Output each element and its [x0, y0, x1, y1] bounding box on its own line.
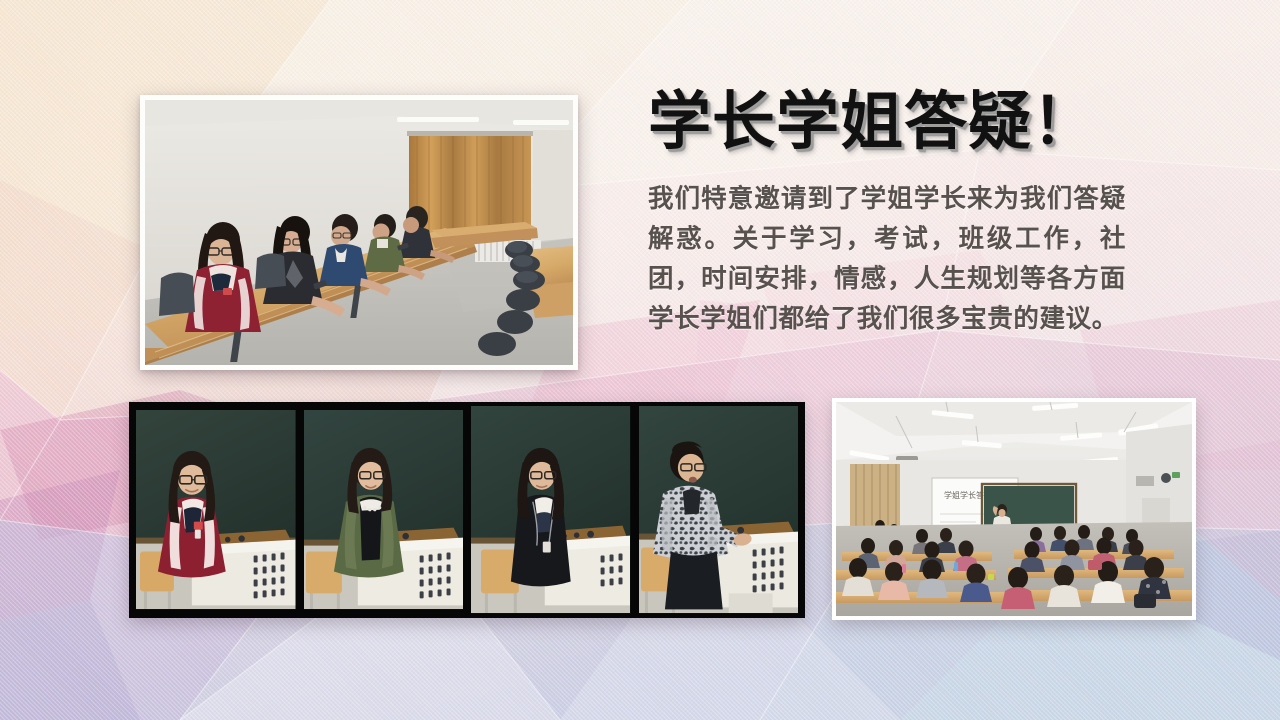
seminar-table-photo-image [145, 100, 573, 365]
speaker-photo-4 [639, 406, 799, 614]
seminar-table-photo [140, 95, 578, 370]
slide-body-text: 我们特意邀请到了学姐学长来为我们答疑解惑。关于学习，考试，班级工作，社团，时间安… [648, 179, 1126, 339]
lecture-hall-photo-image: 学姐学长答疑 [836, 402, 1192, 616]
speaker-photo-strip [129, 402, 805, 618]
speaker-photo-1 [136, 410, 296, 610]
slide-title: 学长学姐答疑！ [648, 88, 1148, 155]
lecture-hall-photo: 学姐学长答疑 [832, 398, 1196, 620]
text-column: 学长学姐答疑！ 我们特意邀请到了学姐学长来为我们答疑解惑。关于学习，考试，班级工… [648, 88, 1148, 339]
speaker-photo-2 [304, 410, 464, 610]
speaker-photo-3 [471, 406, 631, 614]
presentation-slide: 学姐学长答疑 [0, 0, 1280, 720]
